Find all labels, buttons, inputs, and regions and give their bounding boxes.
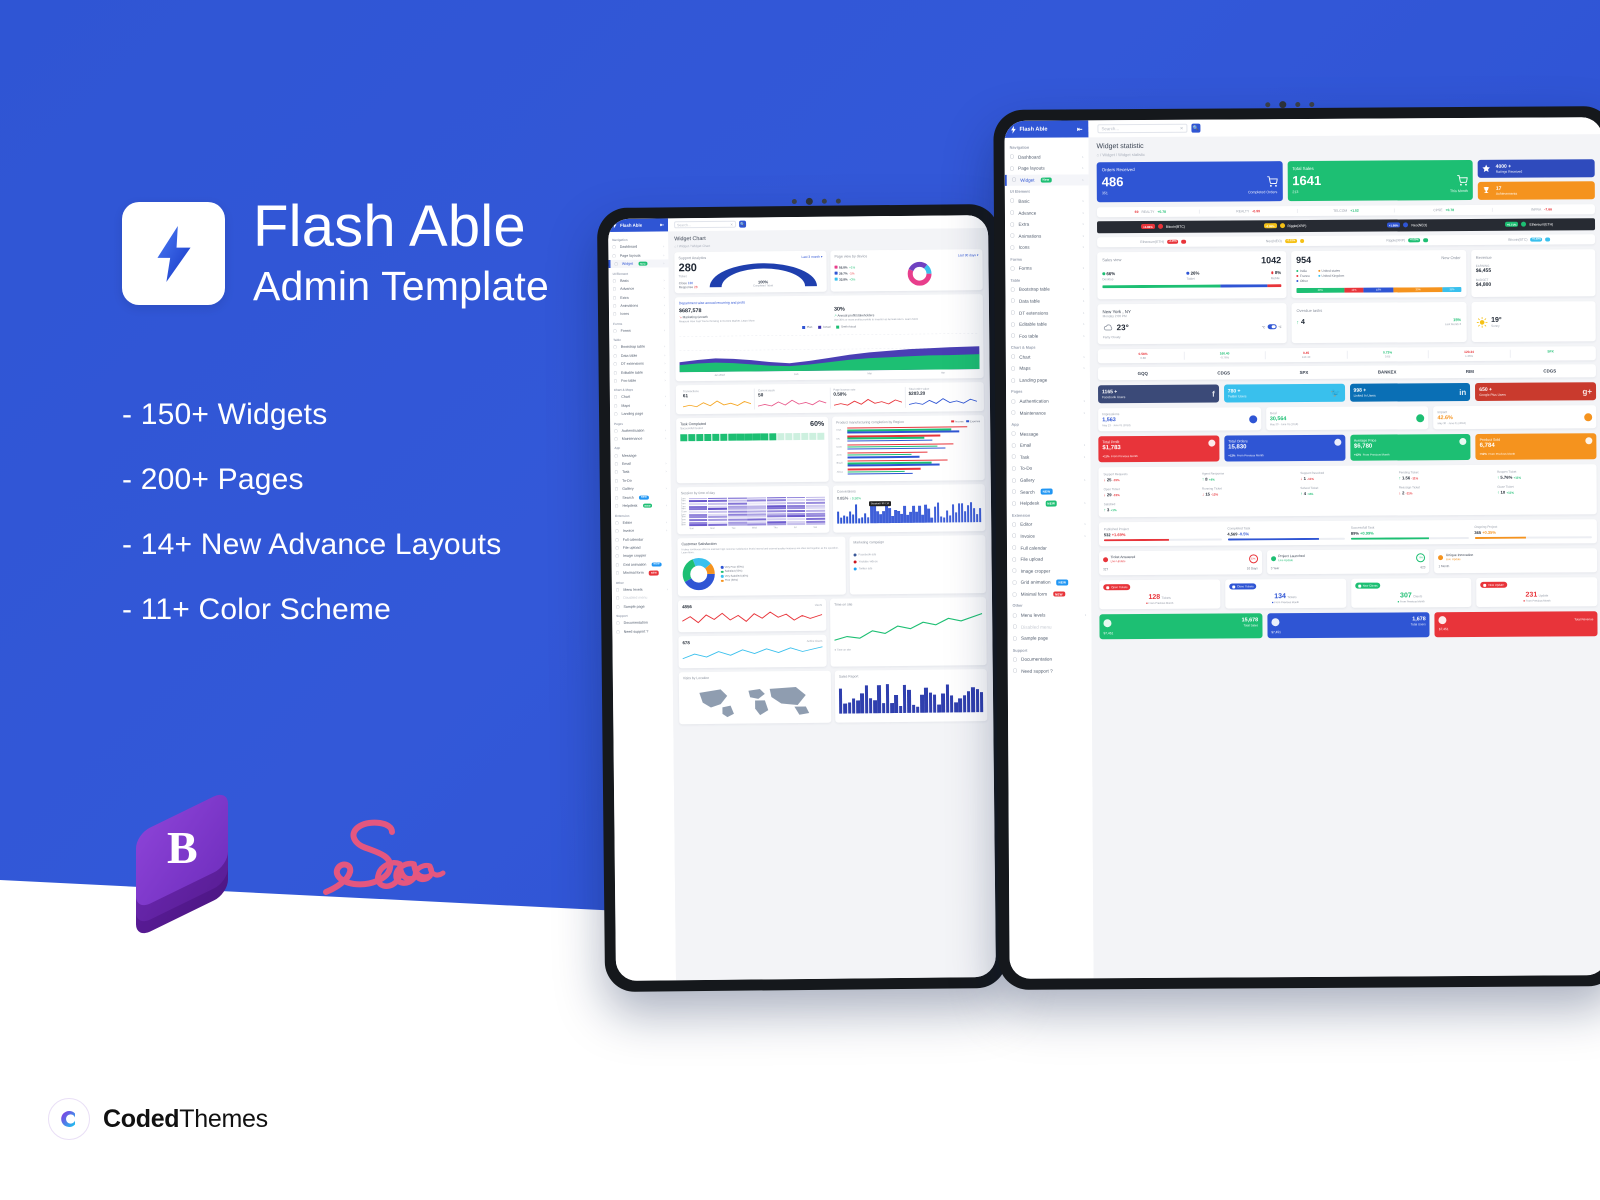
list-item: - 200+ Pages: [122, 463, 682, 497]
crypto-icon: [1300, 239, 1305, 244]
foo-table-icon: ▢: [1011, 333, 1015, 339]
widget-row-1: Support Analytics Last 3 month ▾ 280 Tic…: [674, 249, 982, 293]
bar: [899, 706, 903, 713]
social-text: 780 +Twitter Users: [1228, 388, 1247, 398]
sidebar-item-label: DT extensions: [1019, 310, 1048, 315]
bar-row: USA: [836, 426, 980, 433]
card-note: It takes continuous effort to maintain h…: [681, 546, 841, 554]
market-delta: +1.52: [1350, 208, 1359, 212]
chevron-right-icon: ›: [1084, 443, 1086, 448]
bar: [943, 517, 945, 522]
sidebar-item-animations[interactable]: ▢Animations›: [1005, 230, 1089, 242]
chevron-right-icon: ›: [1084, 522, 1086, 527]
sidebar-item-to-do[interactable]: ▢To-Do: [1006, 462, 1090, 474]
calendar-icon: ▢: [1012, 545, 1016, 551]
cloud-icon: [1103, 322, 1114, 333]
sidebar-item-editable-table[interactable]: ▢Editable table›: [1006, 318, 1090, 330]
orders-received-card: Orders Received 486 351 Completed Orders: [1097, 161, 1283, 202]
metrics-row: Impressions1,563May 23 - June 01 (2018)G…: [1098, 405, 1596, 431]
campaign-label: Twitter ads: [859, 567, 873, 571]
sidebar-item-label: Bootstrap table: [1019, 287, 1050, 292]
sidebar-item-dashboard[interactable]: ▢Dashboard›: [1005, 151, 1089, 163]
task-completed-card: Task Completed Successfull tested 60%: [676, 417, 829, 483]
sidebar-item-minimal-form[interactable]: ▢Minimal formNEW: [1007, 588, 1091, 600]
ticket-stat: Reassign Ticket↓ 2 -11%: [1399, 485, 1493, 496]
profit-card: Product Sold6,784+52% From Previous Mont…: [1476, 433, 1597, 460]
chart-tooltip: Sessions: 90 / 10: [869, 501, 891, 506]
sidebar-item-label: Dashboard: [1018, 154, 1041, 159]
brand-row: Flash Able Admin Template: [122, 196, 682, 312]
close-icon[interactable]: ✕: [1180, 125, 1184, 131]
bar: [837, 512, 839, 523]
sidebar[interactable]: Flash Able ⇤ Navigation▢Dashboard›▢Page …: [1004, 120, 1093, 978]
bottom-cards-row: 15,678Total Sales$7,4511,678Total Users$…: [1099, 611, 1597, 639]
codedthemes-name-bold: Coded: [103, 1105, 179, 1133]
legend-label: Actual: [823, 325, 831, 329]
close-icon[interactable]: ✕: [730, 222, 733, 226]
earning-value: $6,455: [1476, 267, 1591, 274]
widget-row-5: Customer Satisfaction It takes continuou…: [677, 535, 986, 596]
tablet-device-front: Flash Able ⇤ Navigation▢Dashboard›▢Page …: [993, 106, 1600, 990]
tech-logos: B: [126, 800, 446, 918]
lock-icon: ▢: [1011, 398, 1015, 404]
tablet-screen: Flash Able ⇤ Navigation▢Dashboard›▢Page …: [1004, 117, 1600, 979]
ticket-stat: Running Ticket↓ 15 -12%: [1202, 486, 1296, 497]
bar: [839, 689, 843, 714]
chevron-right-icon: ›: [1082, 221, 1084, 226]
sidebar-item-label: Minimal form: [1021, 592, 1047, 597]
percent-sub: 0.88: [1103, 356, 1184, 360]
crypto-item: Ethereum(ETH)-2.35%: [1102, 239, 1224, 244]
trend-icon: Impact42.6%May 30 - June 01 (2018): [1438, 409, 1593, 425]
sidebar-item-widget[interactable]: ▢WidgetNew›: [1005, 174, 1089, 186]
ticket-stat: Satisfied↑ 3 +1%: [1104, 502, 1198, 513]
stat-sub: 213: [1292, 190, 1298, 194]
x-tick: Feb: [794, 373, 799, 376]
bar: [924, 687, 928, 713]
search-icon[interactable]: 🔍: [739, 221, 746, 228]
legend-item: Income: [952, 419, 964, 423]
legend-item: United Kingdom: [1318, 274, 1344, 278]
bar-segment: 30%: [1393, 287, 1442, 292]
world-map: [683, 682, 827, 720]
sidebar-item-chart[interactable]: ▢Chart›: [1006, 351, 1090, 363]
bar: [858, 519, 860, 523]
bar: [954, 703, 958, 713]
legend-label: Smth Actual: [841, 324, 856, 328]
bar: [846, 516, 848, 523]
bar-row: AUS: [836, 451, 980, 458]
bar: [891, 516, 893, 522]
tablet-bezel: Flash Able ⇤ Navigation▢Dashboard›▢Page …: [993, 106, 1600, 990]
device-row: 32.8%+3%: [835, 277, 856, 281]
widget-row-7: Visits by Location: [679, 669, 988, 724]
marketing-campaign-card: Marketing campaign Facebook adsYoutube v…: [849, 535, 986, 594]
chevron-right-icon: ›: [1082, 233, 1084, 238]
card-title: Page view by device: [834, 254, 867, 258]
bar-chart: USAUKCANAUSBrazilAfrica: [836, 426, 980, 475]
bar-label: CAN: [836, 445, 845, 448]
facebook-icon: f: [1212, 389, 1215, 398]
sidebar-item-dt-extensions[interactable]: ▢DT extensions›: [1006, 307, 1090, 319]
ticker-tag: +1.98%: [1387, 222, 1401, 228]
achievements-card: 17 Achievements: [1478, 181, 1595, 200]
bar-row: UK: [836, 434, 980, 441]
legend-item: Actual: [818, 325, 830, 329]
sidebar-group-caption: Other: [1007, 600, 1091, 610]
sales-view-label: Tablet: [1187, 277, 1200, 281]
campaign-list: Facebook adsYoutube videosTwitter ads: [854, 551, 982, 570]
sidebar-item-label: Widget: [1020, 178, 1034, 183]
percent-sub: 110.40: [1266, 355, 1347, 359]
sidebar-menu[interactable]: Navigation▢Dashboard›▢Page layouts›▢Widg…: [1004, 137, 1091, 681]
sidebar-brand-label: Flash Able: [1019, 126, 1047, 132]
brand-text-block: Flash Able Admin Template: [253, 196, 549, 312]
widget-row-sales: Sales view 1042 66%Desktop26%Tablet8%Mob…: [1097, 249, 1595, 299]
sidebar-item-gallery[interactable]: ▢Gallery›: [1007, 474, 1091, 486]
sidebar-item-maps[interactable]: ▢Maps›: [1006, 362, 1090, 374]
exchange-label: CDGS: [1217, 370, 1230, 375]
mini-stats-row: Transactions61Current stock50Page bounce…: [676, 382, 984, 414]
card-title: Revenue: [1476, 254, 1591, 260]
sparkline: [833, 396, 901, 408]
bar: [903, 685, 907, 714]
legend-item: United states: [1318, 269, 1344, 273]
range-selector[interactable]: Last 30 days ▾: [958, 253, 979, 257]
campaign-label: Youtube videos: [859, 560, 878, 564]
sidebar-item-badge: NEW: [1056, 580, 1068, 586]
crypto-item: Bitcoin(BTC)+0.40%: [1468, 237, 1590, 242]
revenue-card: Revenue EARNING $6,455 BUDGET $4,800: [1471, 249, 1596, 297]
breadcrumb[interactable]: ⌂ / Widget / Widget statistic: [1097, 149, 1595, 157]
sidebar-item-label: Maintenance: [1020, 410, 1046, 415]
sensor-dot: [1265, 102, 1270, 107]
bar-label: UK: [836, 437, 845, 440]
sidebar-item-helpdesk[interactable]: ▢HelpdeskNEW›: [1007, 497, 1091, 509]
sidebar-item-label: Message: [1020, 431, 1039, 436]
device-pct: 29.7%: [839, 271, 848, 275]
bar: [865, 686, 869, 714]
social-card-google-plus-users: 650 +Google Plus Usersg+: [1475, 382, 1596, 401]
weather-temp: 19°: [1491, 316, 1502, 323]
sidebar-item-bootstrap-table[interactable]: ▢Bootstrap table›: [1005, 283, 1089, 295]
legend-label: Other: [1300, 279, 1308, 283]
sidebar-item-basic[interactable]: ▢Basic›: [1005, 195, 1089, 207]
sidebar-item-sample-page[interactable]: ▢Sample page: [1008, 632, 1092, 644]
stacked-segment: [1220, 284, 1267, 287]
bar: [848, 703, 852, 714]
ethereum-icon: [1521, 222, 1526, 227]
session-by-time-card: Session by time of day 1am3am5am7am9am11…: [677, 485, 829, 534]
sidebar-item-foo-table[interactable]: ▢Foo table›: [1006, 330, 1090, 342]
legend-item: India: [1296, 269, 1310, 273]
legend-item: Smth Actual: [837, 324, 856, 328]
legend-item: Other: [1296, 279, 1310, 283]
market-value: 69: [1135, 210, 1139, 214]
sidebar-item-forms[interactable]: ▢Forms›: [1005, 262, 1089, 274]
metric-note: Ave 30% or more profits provide to inves…: [834, 317, 979, 322]
legend-column: IndiaFranceOther: [1296, 269, 1310, 284]
ticket-card: Open Tickets128 Tickets■ From Previous M…: [1099, 580, 1220, 609]
bar-chart: Sessions: 90 / 10: [837, 502, 981, 524]
market-label: REALTY: [1236, 209, 1249, 213]
sidebar-item-data-table[interactable]: ▢Data table›: [1005, 295, 1089, 307]
list-item: - 14+ New Advance Layouts: [122, 528, 682, 562]
bar-segment: 12%: [1344, 288, 1364, 293]
market-cell: 69REALTY+0.78: [1102, 209, 1199, 214]
sensor-dot: [836, 199, 841, 204]
donut-chart: [861, 260, 979, 287]
legend-label: India: [1300, 269, 1307, 273]
minimal-form-icon: ▢: [1012, 591, 1016, 597]
market-label: TELCOM: [1333, 208, 1347, 212]
ticket-stat: Reopen Ticket↑ 5.76% +11%: [1497, 469, 1591, 480]
stat-value: 486: [1102, 175, 1124, 188]
bar-group: [848, 459, 981, 466]
chevron-right-icon: ›: [1082, 154, 1084, 159]
ticket-stat: Solved Ticket↑ 4 +4%: [1300, 485, 1394, 496]
crypto-icon: [1181, 239, 1186, 244]
bar-segment: 11%: [1443, 287, 1461, 292]
chevron-right-icon: ›: [1083, 266, 1085, 271]
sidebar-item-file-upload[interactable]: ▢File upload: [1007, 553, 1091, 565]
weather-card: New York , NY Monday 2:00 PM 23° °C: [1098, 303, 1287, 344]
layout-icon: ▢: [1010, 166, 1014, 172]
chevron-right-icon: ›: [1085, 612, 1087, 617]
sidebar-group-caption: Pages: [1006, 386, 1090, 396]
bar: [931, 517, 933, 522]
search-input[interactable]: Search... ✕: [674, 221, 736, 229]
social-text: 998 +Linked In Users: [1354, 388, 1376, 398]
ticket-card: Close Tickets134 Tickets■ From Previous …: [1225, 579, 1346, 608]
legend-column: United statesUnited Kingdom: [1318, 269, 1344, 284]
heatmap-cell: [806, 523, 825, 525]
chevron-right-icon: ›: [1083, 354, 1085, 359]
circle-icon: ▢: [1010, 198, 1014, 204]
stat-value: 1042: [1261, 256, 1281, 265]
chevron-right-icon: ›: [1083, 322, 1085, 327]
market-label: REALTY: [1141, 209, 1154, 213]
x-tick: Sun: [690, 527, 694, 530]
sidebar-item-label: Icons: [1019, 245, 1030, 250]
sidebar-item-editor[interactable]: ▢Editor›: [1007, 518, 1091, 530]
sales-view-card: Sales view 1042 66%Desktop26%Tablet8%Mob…: [1097, 251, 1286, 299]
page-header: Widget statistic ⌂ / Widget / Widget sta…: [1097, 140, 1595, 157]
sidebar-item-grid-animation[interactable]: ▢Grid animationNEW: [1007, 576, 1091, 588]
chevron-right-icon: ›: [1082, 177, 1084, 182]
total-sales-card: Total Sales 1641 213 This Month: [1287, 159, 1473, 200]
ticket-stat: Open Ticket↓ 29 -15%: [1104, 487, 1198, 498]
overdue-tasks-card: Overdue tasks ↑ 4 15% Last Month 6: [1291, 302, 1466, 343]
sidebar-item-label: Landing page: [1019, 378, 1047, 383]
sidebar-item-label: Search: [1020, 489, 1035, 494]
new-order-card: 954 New Order IndiaFranceOtherUnited sta…: [1291, 250, 1466, 298]
sparkline: [683, 398, 751, 410]
widget-row-6: 4856 Users 678: [678, 597, 987, 668]
sidebar-item-label: File upload: [1021, 557, 1044, 562]
bar: [894, 695, 898, 714]
sidebar-item-landing-page[interactable]: ▢Landing page: [1006, 374, 1090, 386]
chevron-right-icon: ›: [1084, 501, 1086, 506]
campaign-item: Twitter ads: [854, 565, 982, 570]
color-swatch: [835, 272, 838, 275]
twitter-icon: 🐦: [1331, 388, 1341, 397]
bar: [975, 689, 979, 712]
crypto-item: Ripple(XRP)+0.69%: [1346, 238, 1468, 243]
search-icon[interactable]: 🔍: [1191, 124, 1200, 133]
sidebar-item-extra[interactable]: ▢Extra›: [1005, 218, 1089, 230]
bar: [873, 700, 877, 713]
sidebar-item-menu-levels[interactable]: ▢Menu levels›: [1007, 609, 1091, 621]
support-icon: ▢: [1013, 668, 1017, 674]
sidebar-item-page-layouts[interactable]: ▢Page layouts›: [1005, 162, 1089, 174]
chevron-right-icon: ›: [1083, 298, 1085, 303]
sidebar-group-caption: Extension: [1007, 509, 1091, 519]
chevron-right-icon: ›: [1083, 366, 1085, 371]
chevron-right-icon: ›: [1083, 333, 1085, 338]
sidebar-item-label: Data table: [1019, 299, 1040, 304]
progress-card: Unique InnovationLive Update1 Month: [1434, 548, 1597, 573]
ticker-name: Ethereum(ETH): [1529, 222, 1553, 226]
sidebar-item-label: Invoice: [1020, 534, 1035, 539]
legend-item: Very Poor (60%): [721, 565, 749, 568]
sidebar-item-disabled-menu[interactable]: ▢Disabled menu: [1007, 621, 1091, 633]
project-stats-row: Published Project532 +1.69%Completed Tas…: [1099, 519, 1597, 546]
sidebar-item-invoice[interactable]: ▢Invoice›: [1007, 530, 1091, 542]
ticker-tag: +4.82%: [1141, 224, 1155, 230]
crypto-name: Ethereum(ETH): [1140, 240, 1164, 244]
ticker-item: +4.82%Bitcoin(BTC): [1102, 223, 1224, 229]
checklist-icon: ▢: [1012, 466, 1016, 472]
sidebar-item-maintenance[interactable]: ▢Maintenance›: [1006, 407, 1090, 419]
sidebar-item-advance[interactable]: ▢Advance›: [1005, 207, 1089, 219]
chevron-right-icon: ›: [1082, 210, 1084, 215]
chevron-right-icon: ›: [1082, 198, 1084, 203]
sales-view-label: Desktop: [1102, 277, 1115, 281]
bar: [907, 690, 911, 713]
x-tick: Sat: [813, 526, 817, 529]
search-input[interactable]: Search... ✕: [1097, 124, 1187, 134]
sidebar-item-full-calendar[interactable]: ▢Full calendar: [1007, 542, 1091, 554]
weather-secondary-card: 19° Sunny: [1471, 301, 1596, 342]
sidebar-item-icons[interactable]: ▢Icons›: [1005, 241, 1089, 253]
ticker-name: Ripple(XRP): [1288, 223, 1307, 227]
sidebar-item-image-cropper[interactable]: ▢Image cropper: [1007, 565, 1091, 577]
stacked-segment: [1267, 284, 1281, 287]
crypto-tag: +0.69%: [1408, 238, 1420, 242]
card-title: Department wise annual recurring and pro…: [679, 298, 979, 305]
heatmap-cell: [748, 524, 767, 526]
x-axis-labels: Jan 2018FebMarApr: [680, 371, 980, 377]
exchange-label: RIM: [1466, 369, 1474, 374]
profit-card: Total Profit$1,783+11% From Previous Mon…: [1098, 436, 1219, 463]
ticker-tag: +0.71%: [1505, 221, 1519, 227]
sidebar-item-need-support-[interactable]: ▢Need support ?: [1008, 665, 1092, 677]
weather-condition: Sunny: [1491, 323, 1502, 327]
widget-row-3: Task Completed Successfull tested 60%: [676, 415, 985, 483]
landing-icon: ▢: [1011, 377, 1015, 383]
sidebar-group-caption: Chart & Maps: [1006, 341, 1090, 351]
sidebar-collapse-icon[interactable]: ⇤: [1077, 125, 1083, 133]
sales-view-item: 26%Tablet: [1187, 271, 1200, 281]
table-icon: ▢: [1011, 287, 1015, 293]
bar: [941, 694, 945, 713]
sidebar-item-documentation[interactable]: ▢Documentation: [1008, 653, 1092, 665]
card-title: Conversions: [837, 488, 981, 494]
bar: [933, 694, 937, 713]
heatmap-chart: 1am3am5am7am9am11am1pm3pm5pm7pm9pm: [681, 496, 825, 526]
crypto-name: Neo(NEO): [1266, 239, 1282, 243]
bottom-card: 1,678Total Users$7,451: [1267, 612, 1430, 638]
sidebar-group-caption: App: [1006, 418, 1090, 428]
card-title: Total Sales: [1292, 165, 1468, 171]
codedthemes-c-icon: [48, 1098, 90, 1140]
animation-icon: ▢: [1010, 233, 1014, 239]
x-tick: Mar: [867, 372, 871, 375]
unit-toggle[interactable]: °C °F: [1262, 324, 1282, 329]
sidebar-item-search[interactable]: ▢SearchNEW: [1007, 486, 1091, 498]
project-stat: Successfull Task89% +0.99%: [1351, 525, 1469, 540]
sidebar-item-label: Disabled menu: [1021, 624, 1052, 629]
sensor-dot: [822, 199, 827, 204]
crop-icon: ▢: [1012, 568, 1016, 574]
sidebar-item-message[interactable]: ▢Message: [1006, 428, 1090, 440]
stat-label: Ratings Received: [1496, 169, 1523, 173]
sidebar-item-authentication[interactable]: ▢Authentication›: [1006, 395, 1090, 407]
chart-legend: IncomeExpense: [952, 419, 981, 423]
heatmap-grid: [689, 496, 826, 526]
sidebar-item-badge: New: [1040, 177, 1051, 183]
ticket-stats-grid: Support Requests↓ 25 -15%Agent Response↑…: [1104, 469, 1592, 512]
stat-sub: 351: [1102, 191, 1108, 195]
stat-value: 1641: [1292, 173, 1321, 186]
range-selector[interactable]: Last 3 month ▾: [801, 254, 822, 258]
bootstrap-logo: B: [126, 800, 238, 918]
legend-label: United states: [1321, 269, 1340, 273]
area-chart: Jan 2018FebMarApr: [679, 329, 979, 377]
bar: [882, 703, 886, 713]
neo-icon: [1403, 222, 1408, 227]
social-text: 650 +Google Plus Users: [1479, 387, 1506, 397]
menu-levels-icon: ▢: [1012, 612, 1016, 618]
page-icon: ▢: [1013, 636, 1017, 642]
exchange-label: BANKEX: [1378, 369, 1397, 374]
sidebar-item-email[interactable]: ▢Email›: [1006, 439, 1090, 451]
sensor-dot: [792, 199, 797, 204]
weather-temp: 23°: [1117, 323, 1129, 332]
stat-note: Last Month 6: [1445, 322, 1461, 326]
bar: [937, 503, 940, 522]
help-icon: ▢: [1012, 501, 1016, 507]
lightning-bolt-icon: [1010, 125, 1016, 133]
bar: [937, 705, 941, 713]
sidebar-brand[interactable]: Flash Able ⇤: [1004, 120, 1088, 138]
card-title: Support Analytics: [678, 255, 706, 259]
campaign-label: Facebook ads: [859, 553, 877, 557]
sidebar-item-label: Gallery: [1020, 478, 1035, 483]
bar: [950, 696, 954, 713]
sidebar-item-task[interactable]: ▢Task›: [1006, 451, 1090, 463]
metric-note: Measure How Fast You're Growing in Curre…: [679, 318, 824, 323]
card-title: Orders Received: [1102, 166, 1278, 172]
database-icon: ▢: [1011, 298, 1015, 304]
bar-segment: 18%: [1364, 287, 1394, 292]
device-row: 29.7%-1%: [835, 271, 856, 275]
lightning-bolt-icon: [152, 226, 196, 282]
crypto-icon: [1545, 237, 1550, 242]
layers-icon: ▢: [1010, 210, 1014, 216]
sidebar-item-label: Page layouts: [1018, 166, 1045, 171]
